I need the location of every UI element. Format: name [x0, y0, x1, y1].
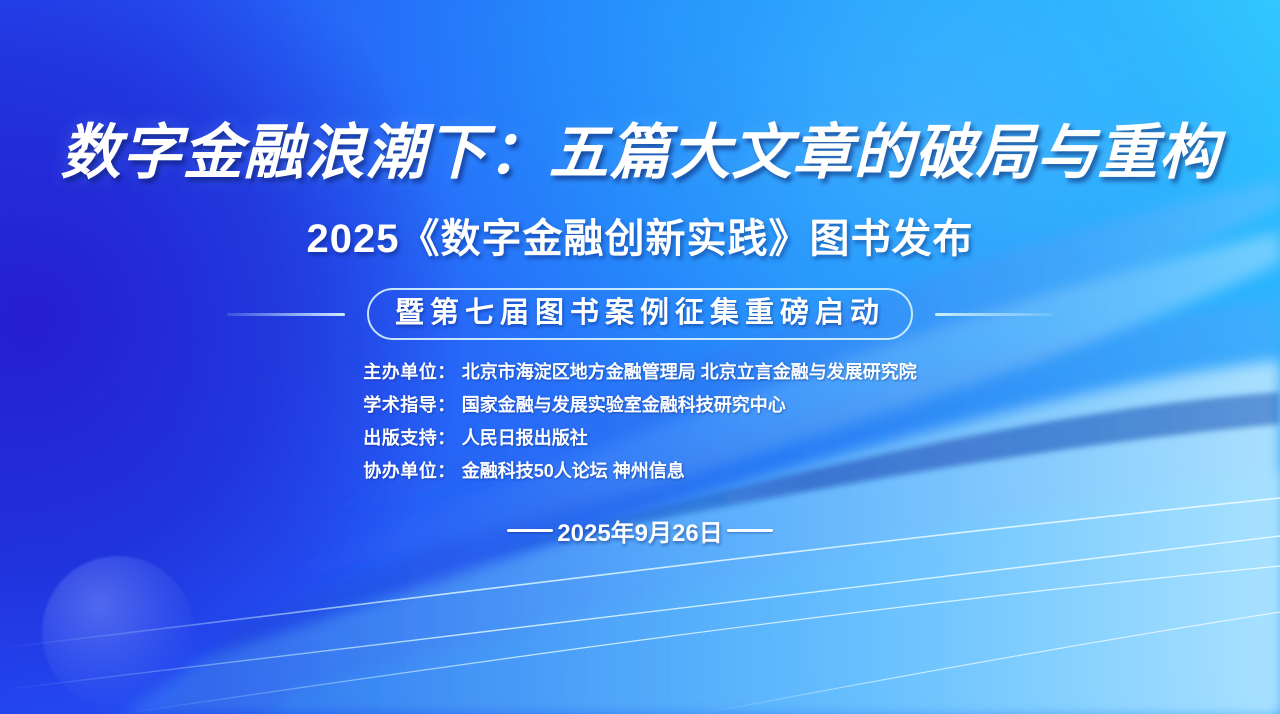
poster-canvas: 数字金融浪潮下：五篇大文章的破局与重构 2025《数字金融创新实践》图书发布 暨…: [0, 0, 1280, 714]
organizer-value: 金融科技50人论坛 神州信息: [462, 457, 685, 483]
banner-rule-left: [227, 313, 345, 316]
banner-pill-text: 暨第七届图书案例征集重磅启动: [367, 288, 913, 340]
date-rule-right: [727, 529, 773, 532]
date-rule-left: [507, 529, 553, 532]
organizer-row: 学术指导： 国家金融与发展实验室金融科技研究中心: [363, 391, 917, 417]
poster-content: 数字金融浪潮下：五篇大文章的破局与重构 2025《数字金融创新实践》图书发布 暨…: [0, 0, 1280, 714]
organizer-value: 国家金融与发展实验室金融科技研究中心: [462, 391, 786, 417]
organizer-label: 主办单位：: [363, 358, 456, 384]
event-date-row: 2025年9月26日: [0, 513, 1280, 548]
organizer-block: 主办单位： 北京市海淀区地方金融管理局 北京立言金融与发展研究院 学术指导： 国…: [0, 358, 1280, 483]
organizer-value: 北京市海淀区地方金融管理局 北京立言金融与发展研究院: [462, 358, 917, 384]
banner-row: 暨第七届图书案例征集重磅启动: [0, 288, 1280, 340]
organizer-label: 学术指导：: [363, 391, 456, 417]
organizer-row: 主办单位： 北京市海淀区地方金融管理局 北京立言金融与发展研究院: [363, 358, 917, 384]
page-title: 数字金融浪潮下：五篇大文章的破局与重构: [0, 104, 1280, 191]
organizer-label: 协办单位：: [363, 457, 456, 483]
page-subtitle: 2025《数字金融创新实践》图书发布: [0, 206, 1280, 264]
organizer-row: 协办单位： 金融科技50人论坛 神州信息: [363, 457, 917, 483]
organizer-label: 出版支持：: [363, 424, 456, 450]
organizer-value: 人民日报出版社: [462, 424, 588, 450]
banner-rule-right: [935, 313, 1053, 316]
organizer-row: 出版支持： 人民日报出版社: [363, 424, 917, 450]
organizer-list: 主办单位： 北京市海淀区地方金融管理局 北京立言金融与发展研究院 学术指导： 国…: [363, 358, 917, 483]
event-date: 2025年9月26日: [557, 513, 722, 548]
